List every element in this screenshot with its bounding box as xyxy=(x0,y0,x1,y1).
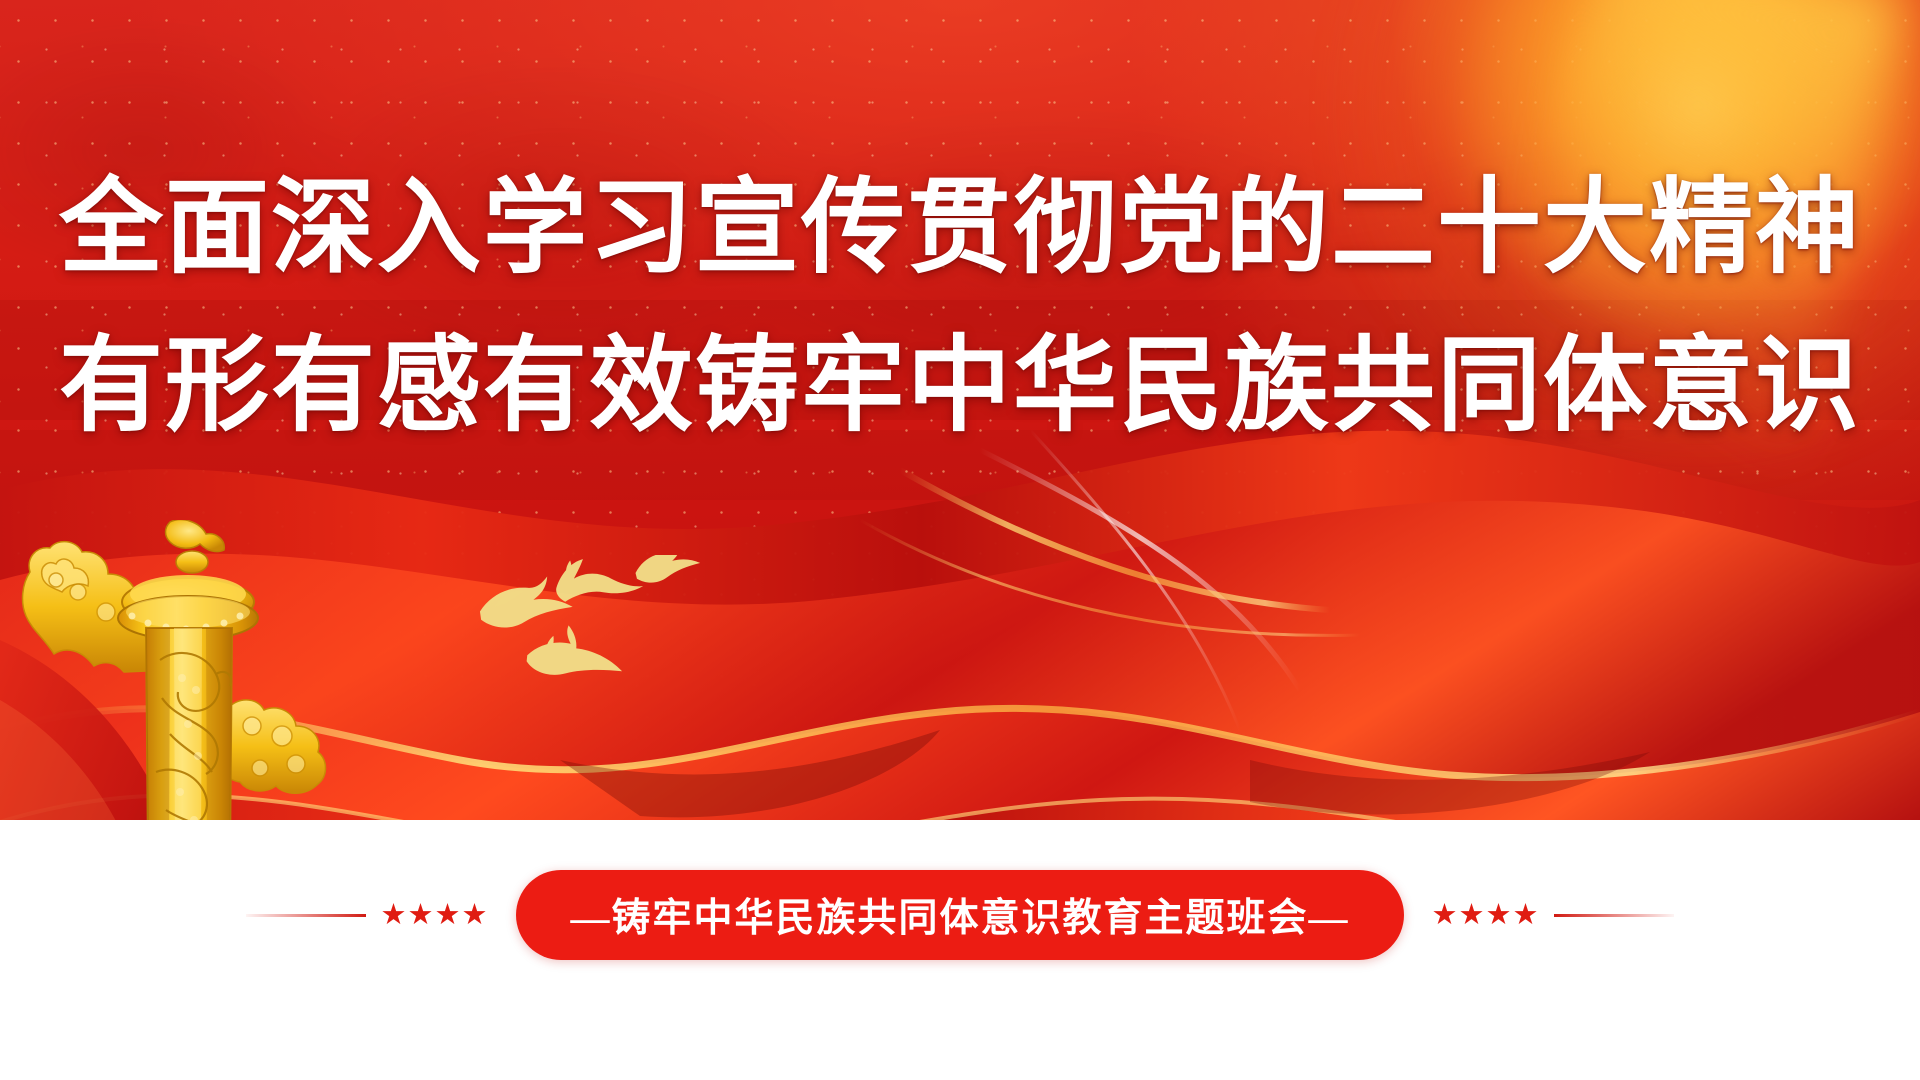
banner-rule-left xyxy=(246,914,366,917)
dove-icon xyxy=(553,555,644,603)
poster-title: 全面深入学习宣传贯彻党的二十大精神 有形有感有效铸牢中华民族共同体意识 xyxy=(0,150,1920,466)
title-line-2: 有形有感有效铸牢中华民族共同体意识 xyxy=(0,308,1920,466)
stars-left: ★★★★ xyxy=(366,901,502,930)
title-line-1: 全面深入学习宣传贯彻党的二十大精神 xyxy=(0,150,1920,308)
column-finial xyxy=(166,520,225,573)
poster-canvas: 全面深入学习宣传贯彻党的二十大精神 有形有感有效铸牢中华民族共同体意识 ★★★★… xyxy=(0,0,1920,1080)
dove-icon xyxy=(631,555,700,586)
bottom-banner-row: ★★★★ —铸牢中华民族共同体意识教育主题班会— ★★★★ xyxy=(0,855,1920,975)
doves-group xyxy=(470,555,700,695)
stars-right: ★★★★ xyxy=(1418,901,1554,930)
banner-pill-label: —铸牢中华民族共同体意识教育主题班会— xyxy=(516,870,1403,960)
dove-icon xyxy=(526,621,627,682)
banner-rule-right xyxy=(1554,914,1674,917)
